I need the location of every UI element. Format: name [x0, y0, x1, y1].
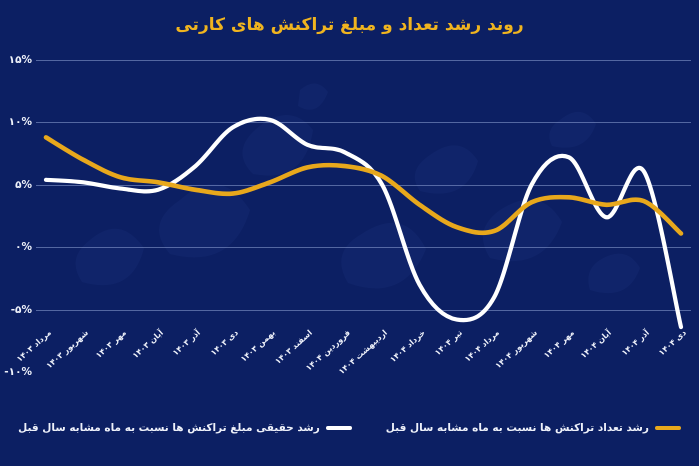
series-lines	[36, 60, 691, 372]
chart-title-bar: روند رشد تعداد و مبلغ تراکنش های کارتی	[0, 0, 699, 50]
legend-label-amount: رشد حقیقی مبلغ تراکنش ها نسبت به ماه مشا…	[18, 422, 320, 434]
legend-label-count: رشد تعداد تراکنش ها نسبت به ماه مشابه سا…	[386, 422, 649, 434]
y-tick-label: -۱۰%	[4, 366, 32, 378]
y-tick-label: -۵%	[11, 304, 32, 316]
series-line-amount	[46, 119, 681, 327]
chart-root: روند رشد تعداد و مبلغ تراکنش های کارتی ۱…	[0, 0, 699, 466]
chart-legend: رشد تعداد تراکنش ها نسبت به ماه مشابه سا…	[0, 408, 699, 448]
line-swatch-icon	[326, 426, 352, 430]
chart-title: روند رشد تعداد و مبلغ تراکنش های کارتی	[175, 15, 523, 35]
legend-item-amount[interactable]: رشد حقیقی مبلغ تراکنش ها نسبت به ماه مشا…	[18, 422, 352, 434]
y-axis-labels: ۱۵% ۱۰% ۵% ۰% -۵% -۱۰%	[0, 60, 36, 372]
y-tick-label: ۱۵%	[9, 54, 32, 66]
legend-item-count[interactable]: رشد تعداد تراکنش ها نسبت به ماه مشابه سا…	[386, 422, 681, 434]
y-tick-label: ۵%	[15, 179, 32, 191]
line-swatch-icon	[655, 426, 681, 430]
y-tick-label: ۰%	[15, 241, 32, 253]
y-tick-label: ۱۰%	[9, 116, 32, 128]
